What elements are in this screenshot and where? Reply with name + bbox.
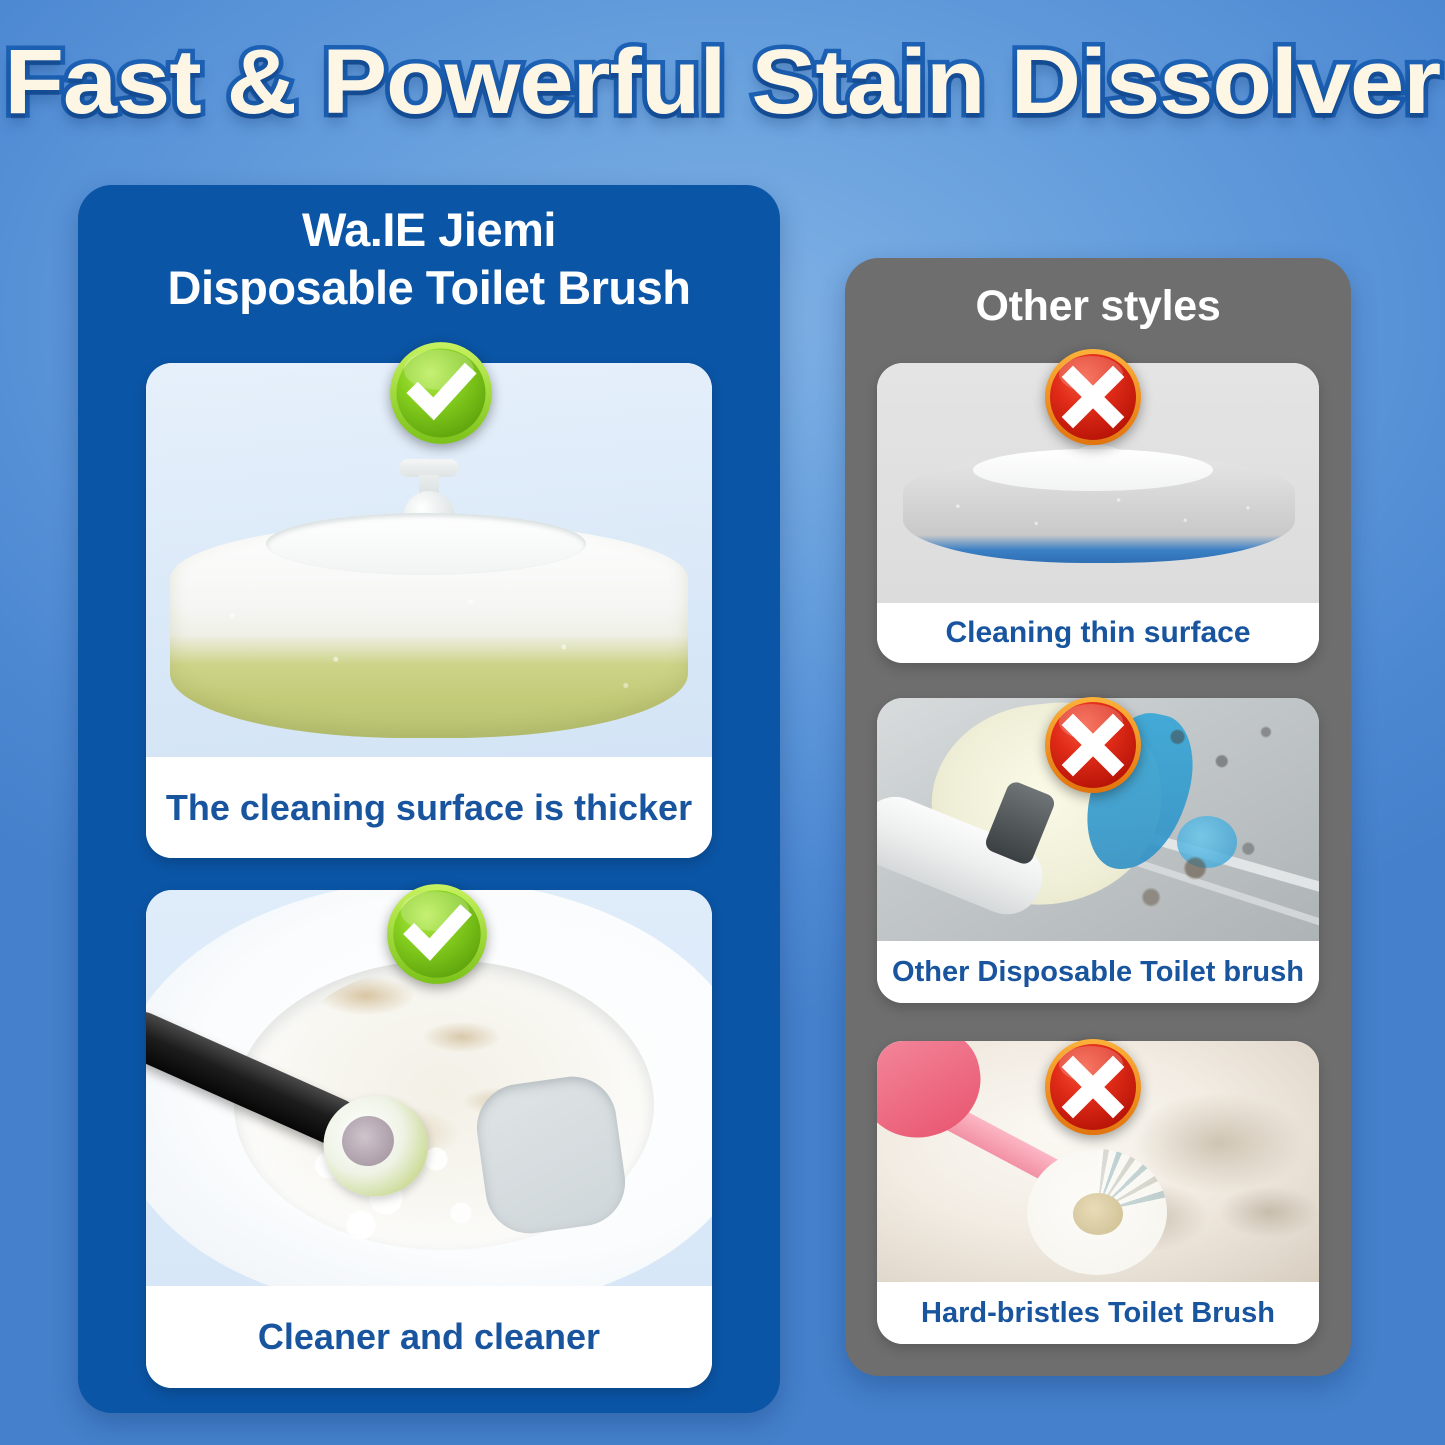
cross-badge-icon	[1043, 695, 1143, 795]
card-caption: Cleaner and cleaner	[146, 1286, 712, 1388]
headline-banner: Fast & Powerful Stain Dissolver	[0, 32, 1445, 144]
check-badge-icon	[388, 340, 494, 446]
check-badge-icon	[385, 882, 489, 986]
card-caption: Cleaning thin surface	[877, 603, 1319, 663]
foam-pore-texture	[170, 563, 688, 738]
other-styles-heading: Other styles	[845, 280, 1351, 332]
card-caption: Hard-bristles Toilet Brush	[877, 1282, 1319, 1344]
product-panel-heading: Wa.IE Jiemi Disposable Toilet Brush	[78, 201, 780, 317]
bristle-hub-shape	[1073, 1193, 1123, 1235]
card-caption: Other Disposable Toilet brush	[877, 941, 1319, 1003]
cross-badge-icon	[1043, 1037, 1143, 1137]
cross-badge-icon	[1043, 347, 1143, 447]
product-name-line: Disposable Toilet Brush	[78, 259, 780, 317]
card-caption: The cleaning surface is thicker	[146, 757, 712, 858]
page-title: Fast & Powerful Stain Dissolver	[5, 32, 1441, 132]
thin-disc-pore-texture	[903, 475, 1295, 553]
product-comparison-infographic: Fast & Powerful Stain Dissolver Wa.IE Ji…	[0, 0, 1445, 1445]
product-brand-line: Wa.IE Jiemi	[78, 201, 780, 259]
